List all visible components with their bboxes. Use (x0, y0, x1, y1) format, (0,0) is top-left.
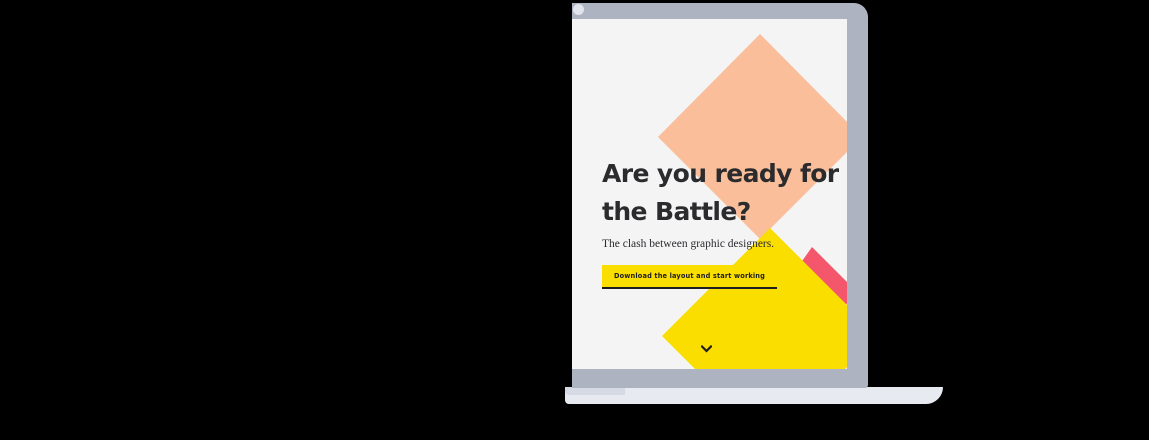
hero-subtitle: The clash between graphic designers. (602, 237, 847, 251)
page-title: Are you ready for the Battle? (602, 155, 847, 231)
hero-section: Are you ready for the Battle? The clash … (602, 155, 847, 289)
screenshot-canvas: Are you ready for the Battle? The clash … (0, 0, 1149, 440)
download-layout-button[interactable]: Download the layout and start working (602, 265, 777, 289)
laptop-mockup: Are you ready for the Battle? The clash … (0, 0, 1149, 440)
chevron-down-icon (701, 345, 712, 353)
laptop-base-shadow (565, 387, 625, 395)
webcam-icon (573, 4, 584, 15)
scroll-down-button[interactable] (698, 341, 714, 357)
laptop-screen: Are you ready for the Battle? The clash … (572, 19, 847, 369)
